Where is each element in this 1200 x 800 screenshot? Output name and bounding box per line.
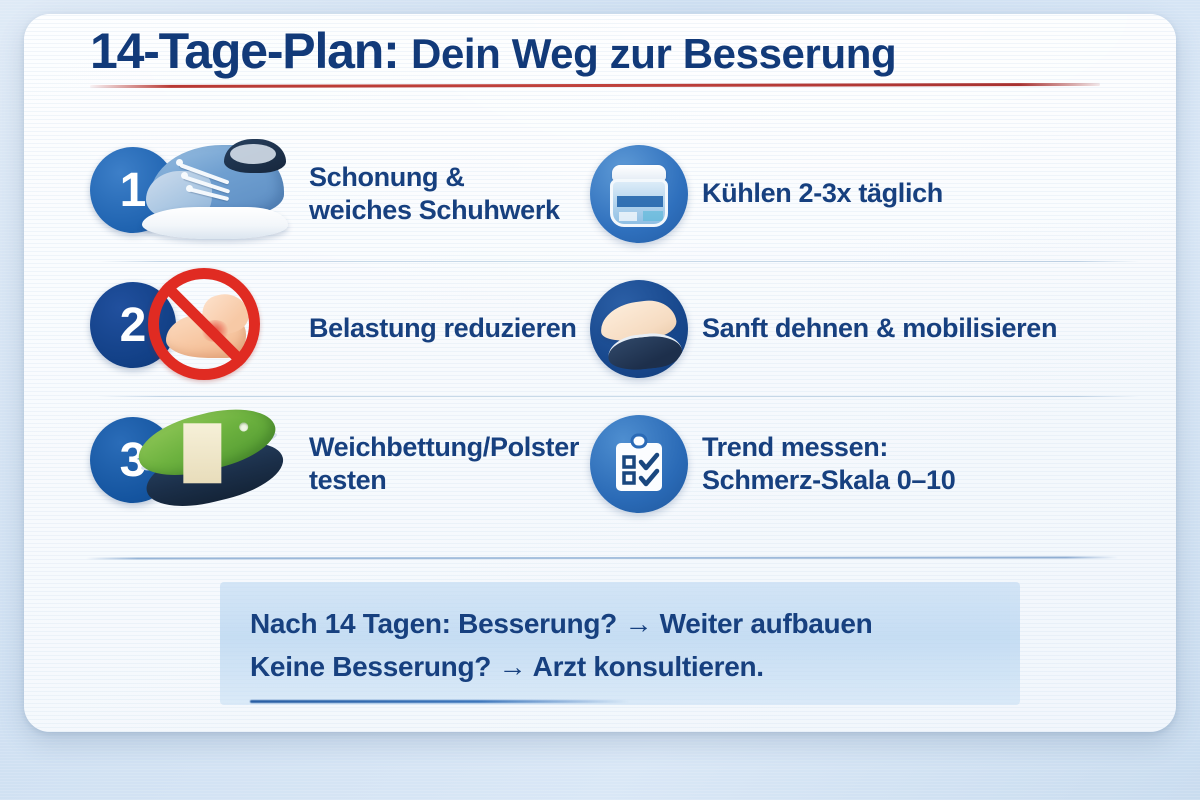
step-2-left-label-line1: Belastung reduzieren: [309, 313, 577, 343]
title-underline-rule: [90, 83, 1100, 88]
step-1-left-label-line1: Schonung &: [309, 162, 464, 192]
step-row-3: 3 Weichbettung/Polster testen: [90, 396, 1150, 531]
callout-line-1: Nach 14 Tagen: Besserung? → Weiter aufba…: [250, 602, 990, 645]
step-2-left-item: 2 Belastung reduzieren: [90, 266, 590, 391]
cushioned-insole-icon: [126, 387, 301, 540]
step-3-left-label: Weichbettung/Polster testen: [309, 431, 579, 497]
clipboard-checklist-icon: [590, 415, 688, 513]
outcome-callout: Nach 14 Tagen: Besserung? → Weiter aufba…: [220, 582, 1020, 705]
step-1-right-label: Kühlen 2-3x täglich: [702, 177, 943, 210]
callout-underline: [250, 700, 630, 703]
step-3-right-item: Trend messen: Schmerz-Skala 0–10: [590, 415, 1150, 513]
stretch-band-icon: [590, 280, 688, 378]
step-3-right-label-line2: Schmerz-Skala 0–10: [702, 464, 955, 497]
title-subtitle: Dein Weg zur Besserung: [411, 30, 896, 77]
infographic-card: 14-Tage-Plan: Dein Weg zur Besserung 1: [24, 14, 1176, 732]
step-1-left-label: Schonung & weiches Schuhwerk: [309, 161, 560, 227]
title-main: 14-Tage-Plan:: [90, 23, 399, 79]
step-3-right-label-line1: Trend messen:: [702, 432, 888, 462]
step-1-left-label-line2: weiches Schuhwerk: [309, 194, 560, 227]
step-3-right-label: Trend messen: Schmerz-Skala 0–10: [702, 431, 955, 497]
step-1-left-item: 1 Schonung &: [90, 131, 590, 256]
no-load-art-block: 2: [90, 266, 295, 391]
callout-line-2: Keine Besserung? → Arzt konsultieren.: [250, 645, 990, 688]
cooling-gel-jar-icon: [590, 145, 688, 243]
step-3-left-label-line1: Weichbettung/Polster: [309, 432, 579, 462]
header: 14-Tage-Plan: Dein Weg zur Besserung: [90, 26, 1126, 87]
page-title: 14-Tage-Plan: Dein Weg zur Besserung: [90, 26, 1126, 76]
step-2-right-item: Sanft dehnen & mobilisieren: [590, 280, 1150, 378]
running-shoe-icon: [140, 137, 292, 249]
step-row-2: 2 Belastung reduzieren: [90, 261, 1150, 396]
shoe-art-block: 1: [90, 131, 295, 256]
step-1-right-item: Kühlen 2-3x täglich: [590, 145, 1150, 243]
bottom-divider-rule: [86, 556, 1118, 559]
no-weight-bearing-foot-icon: [148, 268, 264, 384]
step-2-left-label: Belastung reduzieren: [309, 312, 577, 345]
insole-art-block: 3: [90, 401, 295, 526]
steps-list: 1 Schonung &: [90, 126, 1150, 531]
step-1-right-label-line1: Kühlen 2-3x täglich: [702, 178, 943, 208]
step-3-left-item: 3 Weichbettung/Polster testen: [90, 401, 590, 526]
step-row-1: 1 Schonung &: [90, 126, 1150, 261]
step-2-right-label-line1: Sanft dehnen & mobilisieren: [702, 313, 1057, 343]
step-2-right-label: Sanft dehnen & mobilisieren: [702, 312, 1057, 345]
step-3-left-label-line2: testen: [309, 464, 579, 497]
